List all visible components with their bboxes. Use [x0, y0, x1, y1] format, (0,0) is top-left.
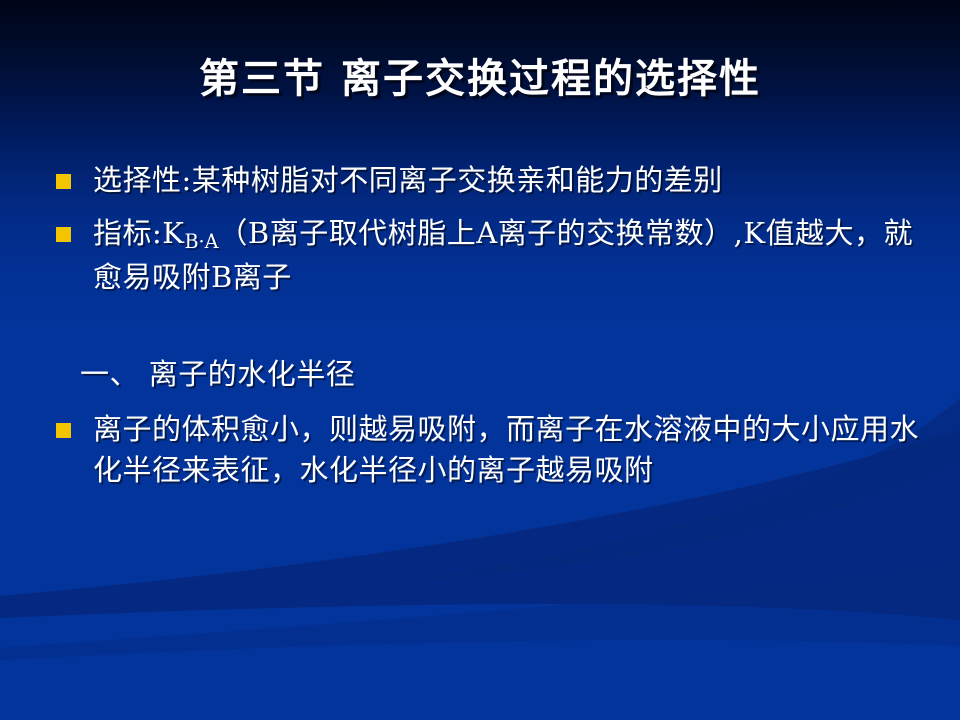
slide-body: 选择性:某种树脂对不同离子交换亲和能力的差别 指标:KB·A（B离子取代树脂上A…: [0, 160, 960, 491]
slide-title: 第三节 离子交换过程的选择性: [0, 56, 960, 102]
indicator-prefix: 指标:K: [93, 216, 184, 250]
presentation-slide: 第三节 离子交换过程的选择性 选择性:某种树脂对不同离子交换亲和能力的差别 指标…: [0, 0, 960, 720]
section-heading-hydration-radius: 一、 离子的水化半径: [0, 354, 960, 395]
bullet-item-ion-volume: 离子的体积愈小，则越易吸附，而离子在水溶液中的大小应用水化半径来表征，水化半径小…: [0, 409, 960, 491]
bullet-marker-square: [56, 423, 71, 438]
bullet-item-selectivity: 选择性:某种树脂对不同离子交换亲和能力的差别: [0, 160, 960, 201]
bullet-item-indicator-text: 指标:KB·A（B离子取代树脂上A离子的交换常数）,K值越大，就愈易吸附B离子: [93, 213, 930, 298]
spacer: [0, 201, 960, 213]
indicator-suffix: （B离子取代树脂上A离子的交换常数）,K值越大，就愈易吸附B离子: [93, 216, 913, 294]
indicator-subscript: B·A: [184, 230, 218, 253]
bullet-item-selectivity-text: 选择性:某种树脂对不同离子交换亲和能力的差别: [93, 160, 930, 201]
bullet-item-indicator: 指标:KB·A（B离子取代树脂上A离子的交换常数）,K值越大，就愈易吸附B离子: [0, 213, 960, 298]
bullet-item-ion-volume-text: 离子的体积愈小，则越易吸附，而离子在水溶液中的大小应用水化半径来表征，水化半径小…: [93, 409, 930, 491]
spacer: [0, 395, 960, 409]
bullet-marker-square: [56, 174, 71, 189]
spacer: [0, 298, 960, 354]
bullet-marker-square: [56, 227, 71, 242]
